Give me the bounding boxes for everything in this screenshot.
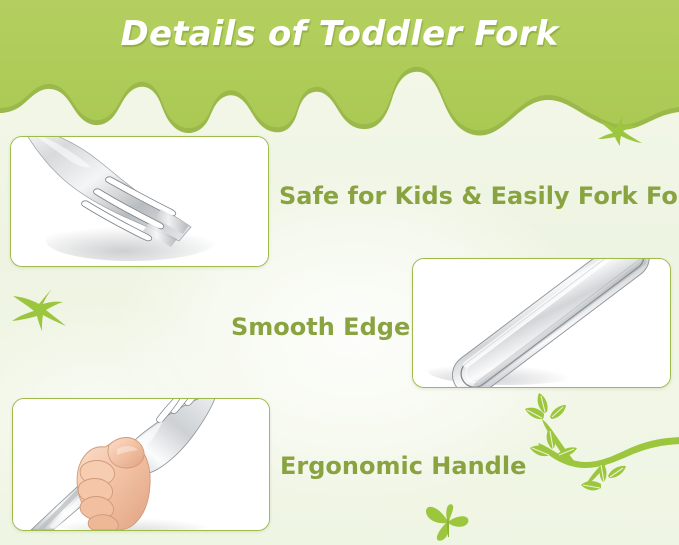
product-detail-infographic: Details of Toddler Fork xyxy=(0,0,679,545)
feature-caption-safe-for-kids: Safe for Kids & Easily Fork Food xyxy=(279,182,679,210)
swallow-bird-icon xyxy=(8,285,66,333)
fork-head-icon xyxy=(11,137,268,266)
hand-holding-fork-icon xyxy=(13,399,269,530)
feature-caption-smooth-edge: Smooth Edge xyxy=(231,313,410,341)
leaf-branch-icon xyxy=(505,386,679,514)
feature-image-card-smooth-edge xyxy=(412,258,671,388)
swallow-bird-icon xyxy=(596,110,644,152)
page-title: Details of Toddler Fork xyxy=(0,14,679,54)
feature-image-card-safe-for-kids xyxy=(10,136,269,267)
feature-image-card-ergonomic-handle xyxy=(12,398,270,531)
feature-caption-ergonomic-handle: Ergonomic Handle xyxy=(280,452,526,480)
butterfly-icon xyxy=(424,500,472,542)
fork-handle-end-icon xyxy=(413,259,670,387)
